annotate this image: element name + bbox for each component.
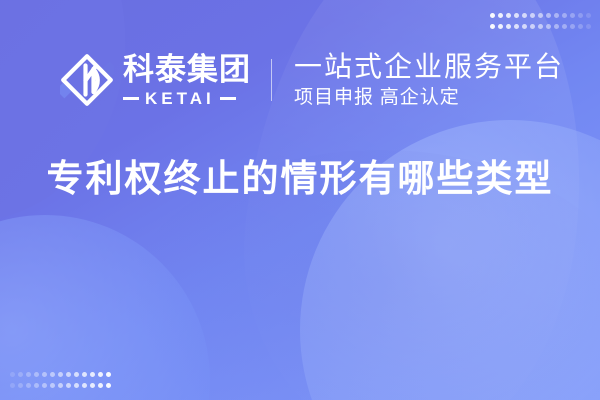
decorative-dot [106,383,111,388]
decorative-dot [42,383,47,388]
decorative-dot [490,13,495,18]
decorative-dot [74,383,79,388]
logo-company-name-cn: 科泰集团 [123,53,251,87]
logo-rule-right-icon [220,97,236,100]
decorative-dot [498,24,503,29]
decorative-dot [554,24,559,29]
decorative-dot [498,13,503,18]
decorative-dot [18,383,23,388]
decorative-dot [514,13,519,18]
decorative-dot [106,372,111,377]
brand-header: 科泰集团 KETAI 一站式企业服务平台 项目申报 高企认定 [60,44,564,116]
logo-latin-row: KETAI [123,89,251,108]
decorative-dot [490,24,495,29]
decorative-dot [26,383,31,388]
decorative-dot [50,372,55,377]
tagline-secondary: 项目申报 高企认定 [294,86,564,110]
decorative-dot [522,24,527,29]
dot-grid-bottom-left [8,371,112,390]
decorative-dot [82,372,87,377]
decorative-dot [58,372,63,377]
decorative-dot [506,13,511,18]
dot-grid-top-right [488,12,592,31]
decorative-dot [586,13,591,18]
decorative-dot [98,383,103,388]
decorative-dot [74,372,79,377]
logo-rule-left-icon [123,97,139,100]
page-title: 专利权终止的情形有哪些类型 [0,155,600,203]
decorative-dot [554,13,559,18]
decorative-dot [530,13,535,18]
logo-company-name-latin: KETAI [145,89,215,108]
decorative-dot [34,383,39,388]
decorative-dot [18,372,23,377]
decorative-dot [10,372,15,377]
decorative-dot [10,383,15,388]
decorative-dot [570,24,575,29]
tagline-block: 一站式企业服务平台 项目申报 高企认定 [294,50,564,110]
decorative-dot [34,372,39,377]
ketai-diamond-k-logo-icon [60,53,114,107]
decorative-dot [42,372,47,377]
decorative-dot [546,24,551,29]
decorative-dot [66,372,71,377]
decorative-dot [562,24,567,29]
decorative-dot [562,13,567,18]
decorative-dot [66,383,71,388]
decorative-dot [538,13,543,18]
decorative-dot [506,24,511,29]
decorative-dot [50,383,55,388]
decorative-dot [538,24,543,29]
decorative-dot [98,372,103,377]
header-divider [271,59,272,101]
decorative-dot [570,13,575,18]
decorative-dot [522,13,527,18]
banner-root: 科泰集团 KETAI 一站式企业服务平台 项目申报 高企认定 专利权终止的情形有… [0,0,600,400]
decorative-dot [586,24,591,29]
decorative-dot [90,383,95,388]
decorative-dot [578,13,583,18]
decorative-dot [514,24,519,29]
decorative-dot [530,24,535,29]
logo-wordmark: 科泰集团 KETAI [123,53,251,108]
decorative-dot [578,24,583,29]
decorative-dot [90,372,95,377]
decorative-dot [546,13,551,18]
decorative-dot [58,383,63,388]
tagline-primary: 一站式企业服务平台 [294,50,564,83]
decorative-dot [26,372,31,377]
decorative-dot [82,383,87,388]
